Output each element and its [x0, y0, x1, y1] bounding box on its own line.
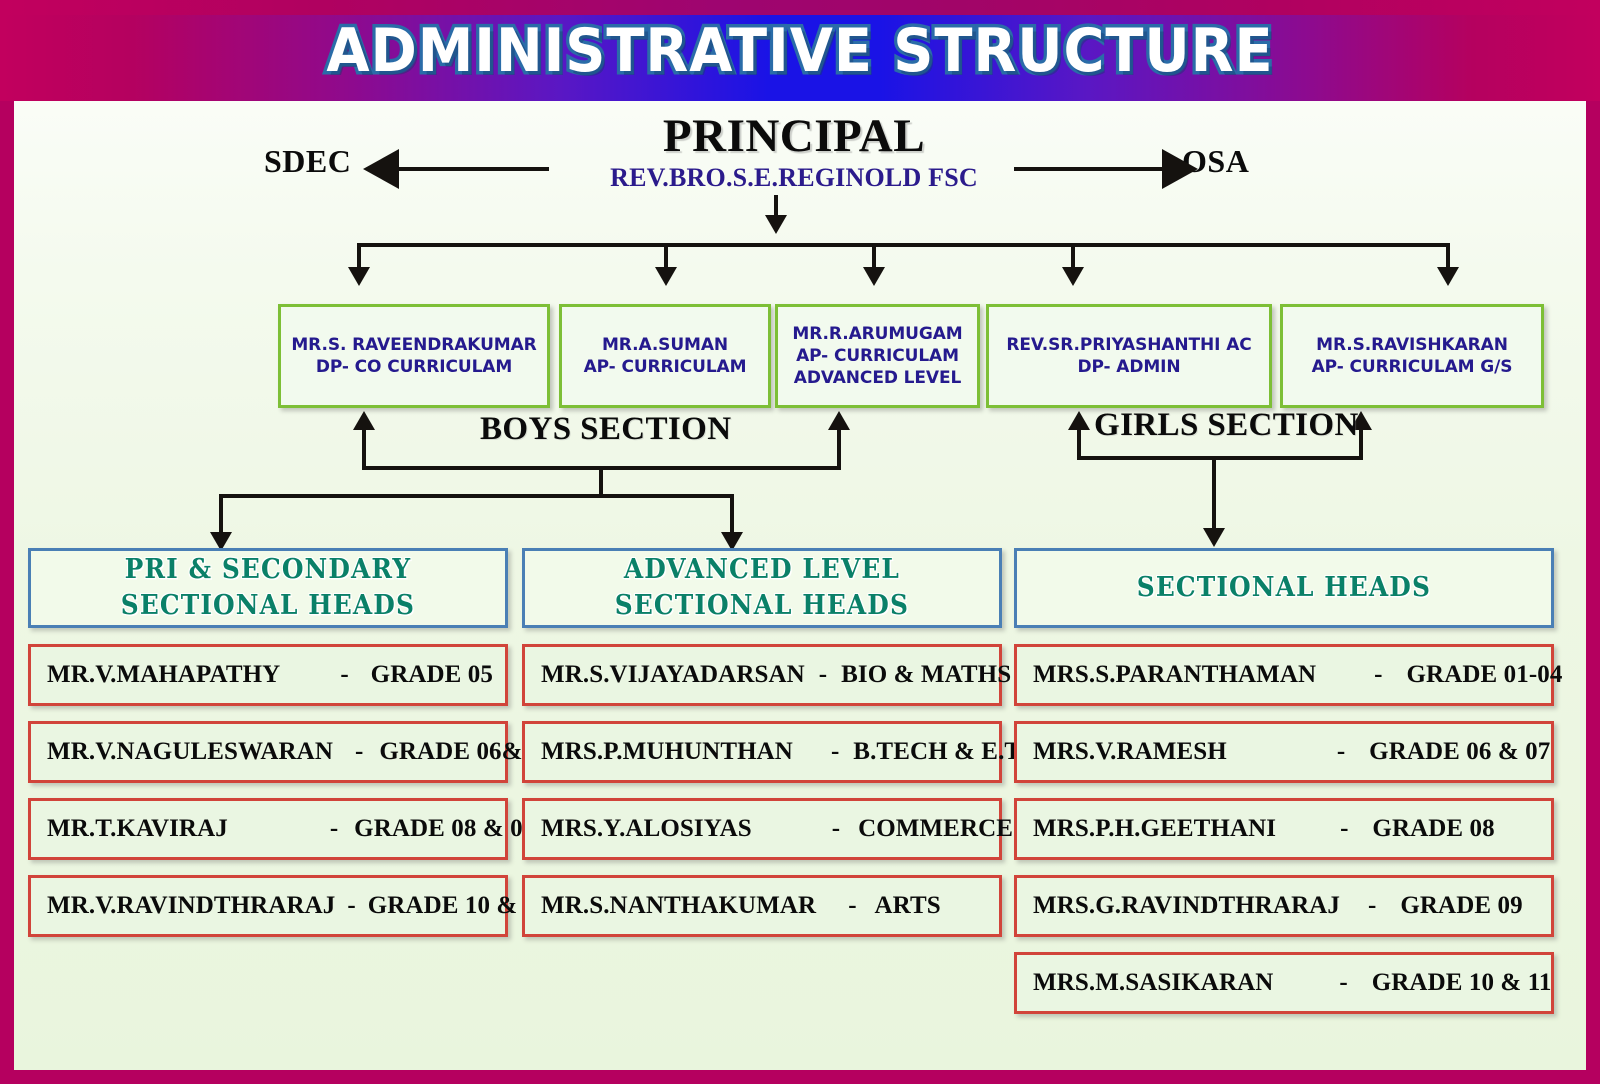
list-item[interactable]: MR.V.NAGULESWARAN - GRADE 06&07 — [28, 721, 508, 783]
separator-dash: - — [1374, 661, 1382, 689]
column-header-text: ADVANCED LEVEL SECTIONAL HEADS — [615, 552, 909, 623]
role-box-suman[interactable]: MR.A.SUMAN AP- CURRICULAM — [559, 304, 771, 408]
person-name: MR.T.KAVIRAJ — [47, 815, 228, 843]
osa-arrow-head-icon — [1162, 149, 1198, 189]
list-item[interactable]: MRS.M.SASIKARAN - GRADE 10 & 11 — [1014, 952, 1554, 1014]
separator-dash: - — [831, 738, 839, 766]
person-name: MRS.Y.ALOSIYAS — [541, 815, 752, 843]
grade-label: GRADE 10 & 11 — [1372, 969, 1552, 997]
girls-left-riser — [1077, 429, 1081, 459]
principal-title: PRINCIPAL — [574, 109, 1014, 163]
list-item[interactable]: MRS.P.H.GEETHANI - GRADE 08 — [1014, 798, 1554, 860]
boys-left-arrow-icon — [353, 411, 375, 430]
separator-dash: - — [1368, 892, 1376, 920]
boys-left-riser — [362, 429, 366, 469]
list-item[interactable]: MRS.S.PARANTHAMAN - GRADE 01-04 — [1014, 644, 1554, 706]
grade-label: BIO & MATHS — [841, 661, 1011, 689]
list-item[interactable]: MR.S.NANTHAKUMAR - ARTS — [522, 875, 1002, 937]
separator-dash: - — [848, 892, 856, 920]
grade-label: GRADE 01-04 — [1407, 661, 1563, 689]
list-item[interactable]: MR.T.KAVIRAJ - GRADE 08 & 09 — [28, 798, 508, 860]
girls-bus — [1077, 456, 1363, 460]
grade-label: GRADE 06 & 07 — [1369, 738, 1550, 766]
person-name: MR.V.MAHAPATHY — [47, 661, 280, 689]
separator-dash: - — [1337, 738, 1345, 766]
separator-dash: - — [347, 892, 355, 920]
role-box-text: MR.S. RAVEENDRAKUMAR DP- CO CURRICULAM — [291, 334, 536, 378]
separator-dash: - — [819, 661, 827, 689]
separator-dash: - — [1340, 815, 1348, 843]
role-box-ravishkaran[interactable]: MR.S.RAVISHKARAN AP- CURRICULAM G/S — [1280, 304, 1544, 408]
person-name: MR.S.NANTHAKUMAR — [541, 892, 816, 920]
column-header-sectional-heads[interactable]: SECTIONAL HEADS — [1014, 548, 1554, 628]
girls-section-label: GIRLS SECTION — [1094, 407, 1359, 444]
osa-arrow-shaft — [1014, 167, 1164, 171]
column-header-pri-secondary[interactable]: PRI & SECONDARY SECTIONAL HEADS — [28, 548, 508, 628]
role-box-priyashanthi[interactable]: REV.SR.PRIYASHANTHI AC DP- ADMIN — [986, 304, 1272, 408]
grade-label: GRADE 05 — [371, 661, 493, 689]
fanout-arrow-1-icon — [348, 267, 370, 286]
person-name: MRS.P.MUHUNTHAN — [541, 738, 793, 766]
boys-col2-drop — [730, 494, 734, 536]
boys-lower-bus — [219, 494, 734, 498]
fanout-arrow-4-icon — [1062, 267, 1084, 286]
list-item[interactable]: MRS.V.RAMESH - GRADE 06 & 07 — [1014, 721, 1554, 783]
person-name: MRS.S.PARANTHAMAN — [1033, 661, 1316, 689]
sdec-label: SDEC — [264, 143, 351, 180]
fanout-arrow-5-icon — [1437, 267, 1459, 286]
banner-top-strip — [0, 0, 1600, 15]
girls-center-drop — [1212, 456, 1216, 532]
grade-label: GRADE 08 & 09 — [354, 815, 535, 843]
grade-label: GRADE 09 — [1400, 892, 1522, 920]
boys-col1-drop — [219, 494, 223, 536]
person-name: MRS.V.RAMESH — [1033, 738, 1227, 766]
list-item[interactable]: MR.V.RAVINDTHRARAJ - GRADE 10 & 11 — [28, 875, 508, 937]
person-name: MR.V.NAGULESWARAN — [47, 738, 333, 766]
separator-dash: - — [340, 661, 348, 689]
person-name: MRS.P.H.GEETHANI — [1033, 815, 1276, 843]
sdec-arrow-shaft — [399, 167, 549, 171]
role-box-text: MR.S.RAVISHKARAN AP- CURRICULAM G/S — [1312, 334, 1513, 378]
grade-label: COMMERCE — [858, 815, 1013, 843]
administrative-structure-poster: ADMINISTRATIVE STRUCTURE PRINCIPAL REV.B… — [0, 0, 1600, 1084]
role-box-text: MR.R.ARUMUGAM AP- CURRICULAM ADVANCED LE… — [792, 323, 962, 389]
boys-right-arrow-icon — [828, 411, 850, 430]
grade-label: ARTS — [875, 892, 941, 920]
girls-right-riser — [1359, 429, 1363, 459]
girls-col-arrow-icon — [1203, 528, 1225, 547]
column-header-text: SECTIONAL HEADS — [1137, 570, 1431, 606]
role-box-arumugam[interactable]: MR.R.ARUMUGAM AP- CURRICULAM ADVANCED LE… — [775, 304, 980, 408]
list-item[interactable]: MR.S.VIJAYADARSAN - BIO & MATHS — [522, 644, 1002, 706]
principal-name: REV.BRO.S.E.REGINOLD FSC — [534, 163, 1054, 193]
header-banner: ADMINISTRATIVE STRUCTURE — [0, 0, 1600, 101]
role-box-text: REV.SR.PRIYASHANTHI AC DP- ADMIN — [1006, 334, 1251, 378]
fanout-arrow-3-icon — [863, 267, 885, 286]
role-box-raveendrakumar[interactable]: MR.S. RAVEENDRAKUMAR DP- CO CURRICULAM — [278, 304, 550, 408]
boys-right-riser — [837, 429, 841, 469]
role-box-text: MR.A.SUMAN AP- CURRICULAM — [584, 334, 747, 378]
separator-dash: - — [355, 738, 363, 766]
chart-canvas: PRINCIPAL REV.BRO.S.E.REGINOLD FSC SDEC … — [14, 101, 1586, 1070]
boys-section-label: BOYS SECTION — [480, 411, 731, 448]
girls-left-arrow-icon — [1068, 411, 1090, 430]
separator-dash: - — [330, 815, 338, 843]
person-name: MRS.G.RAVINDTHRARAJ — [1033, 892, 1340, 920]
fanout-arrow-2-icon — [655, 267, 677, 286]
list-item[interactable]: MRS.Y.ALOSIYAS - COMMERCE — [522, 798, 1002, 860]
page-title: ADMINISTRATIVE STRUCTURE — [56, 20, 1544, 83]
fanout-bus — [357, 243, 1450, 247]
grade-label: GRADE 08 — [1372, 815, 1494, 843]
list-item[interactable]: MR.V.MAHAPATHY - GRADE 05 — [28, 644, 508, 706]
column-header-text: PRI & SECONDARY SECTIONAL HEADS — [121, 552, 415, 623]
separator-dash: - — [832, 815, 840, 843]
column-header-advanced-level[interactable]: ADVANCED LEVEL SECTIONAL HEADS — [522, 548, 1002, 628]
principal-stem-arrow-icon — [765, 215, 787, 234]
person-name: MR.V.RAVINDTHRARAJ — [47, 892, 335, 920]
list-item[interactable]: MRS.G.RAVINDTHRARAJ - GRADE 09 — [1014, 875, 1554, 937]
person-name: MRS.M.SASIKARAN — [1033, 969, 1273, 997]
separator-dash: - — [1339, 969, 1347, 997]
list-item[interactable]: MRS.P.MUHUNTHAN - B.TECH & E.TECH — [522, 721, 1002, 783]
person-name: MR.S.VIJAYADARSAN — [541, 661, 805, 689]
grade-label: GRADE 10 & 11 — [368, 892, 548, 920]
boys-center-drop — [599, 466, 603, 496]
sdec-arrow-head-icon — [363, 149, 399, 189]
